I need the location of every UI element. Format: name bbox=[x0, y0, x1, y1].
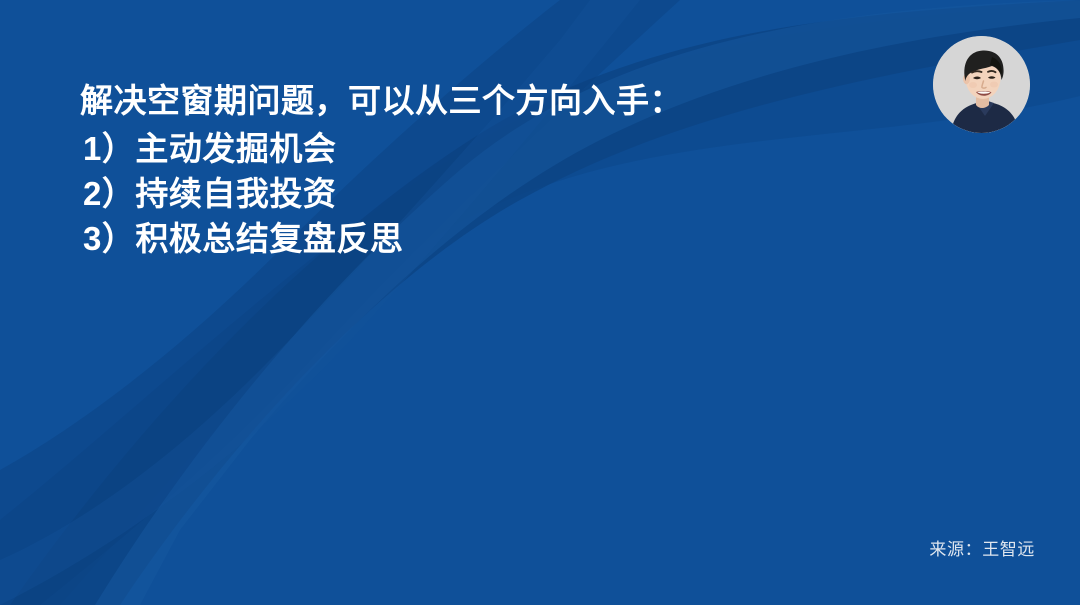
list-item: 2）持续自我投资 bbox=[80, 171, 900, 216]
list-item: 1）主动发掘机会 bbox=[80, 126, 900, 171]
list-item: 3）积极总结复盘反思 bbox=[80, 216, 900, 261]
page-title: 解决空窗期问题，可以从三个方向入手： bbox=[80, 78, 900, 124]
avatar bbox=[933, 36, 1030, 133]
numbered-point-list: 1）主动发掘机会 2）持续自我投资 3）积极总结复盘反思 bbox=[80, 126, 900, 261]
source-attribution: 来源：王智远 bbox=[929, 535, 1035, 560]
slide-text-block: 解决空窗期问题，可以从三个方向入手： 1）主动发掘机会 2）持续自我投资 3）积… bbox=[80, 78, 900, 261]
user-portrait-photo bbox=[933, 36, 1030, 133]
presentation-slide: 解决空窗期问题，可以从三个方向入手： 1）主动发掘机会 2）持续自我投资 3）积… bbox=[0, 0, 1080, 605]
